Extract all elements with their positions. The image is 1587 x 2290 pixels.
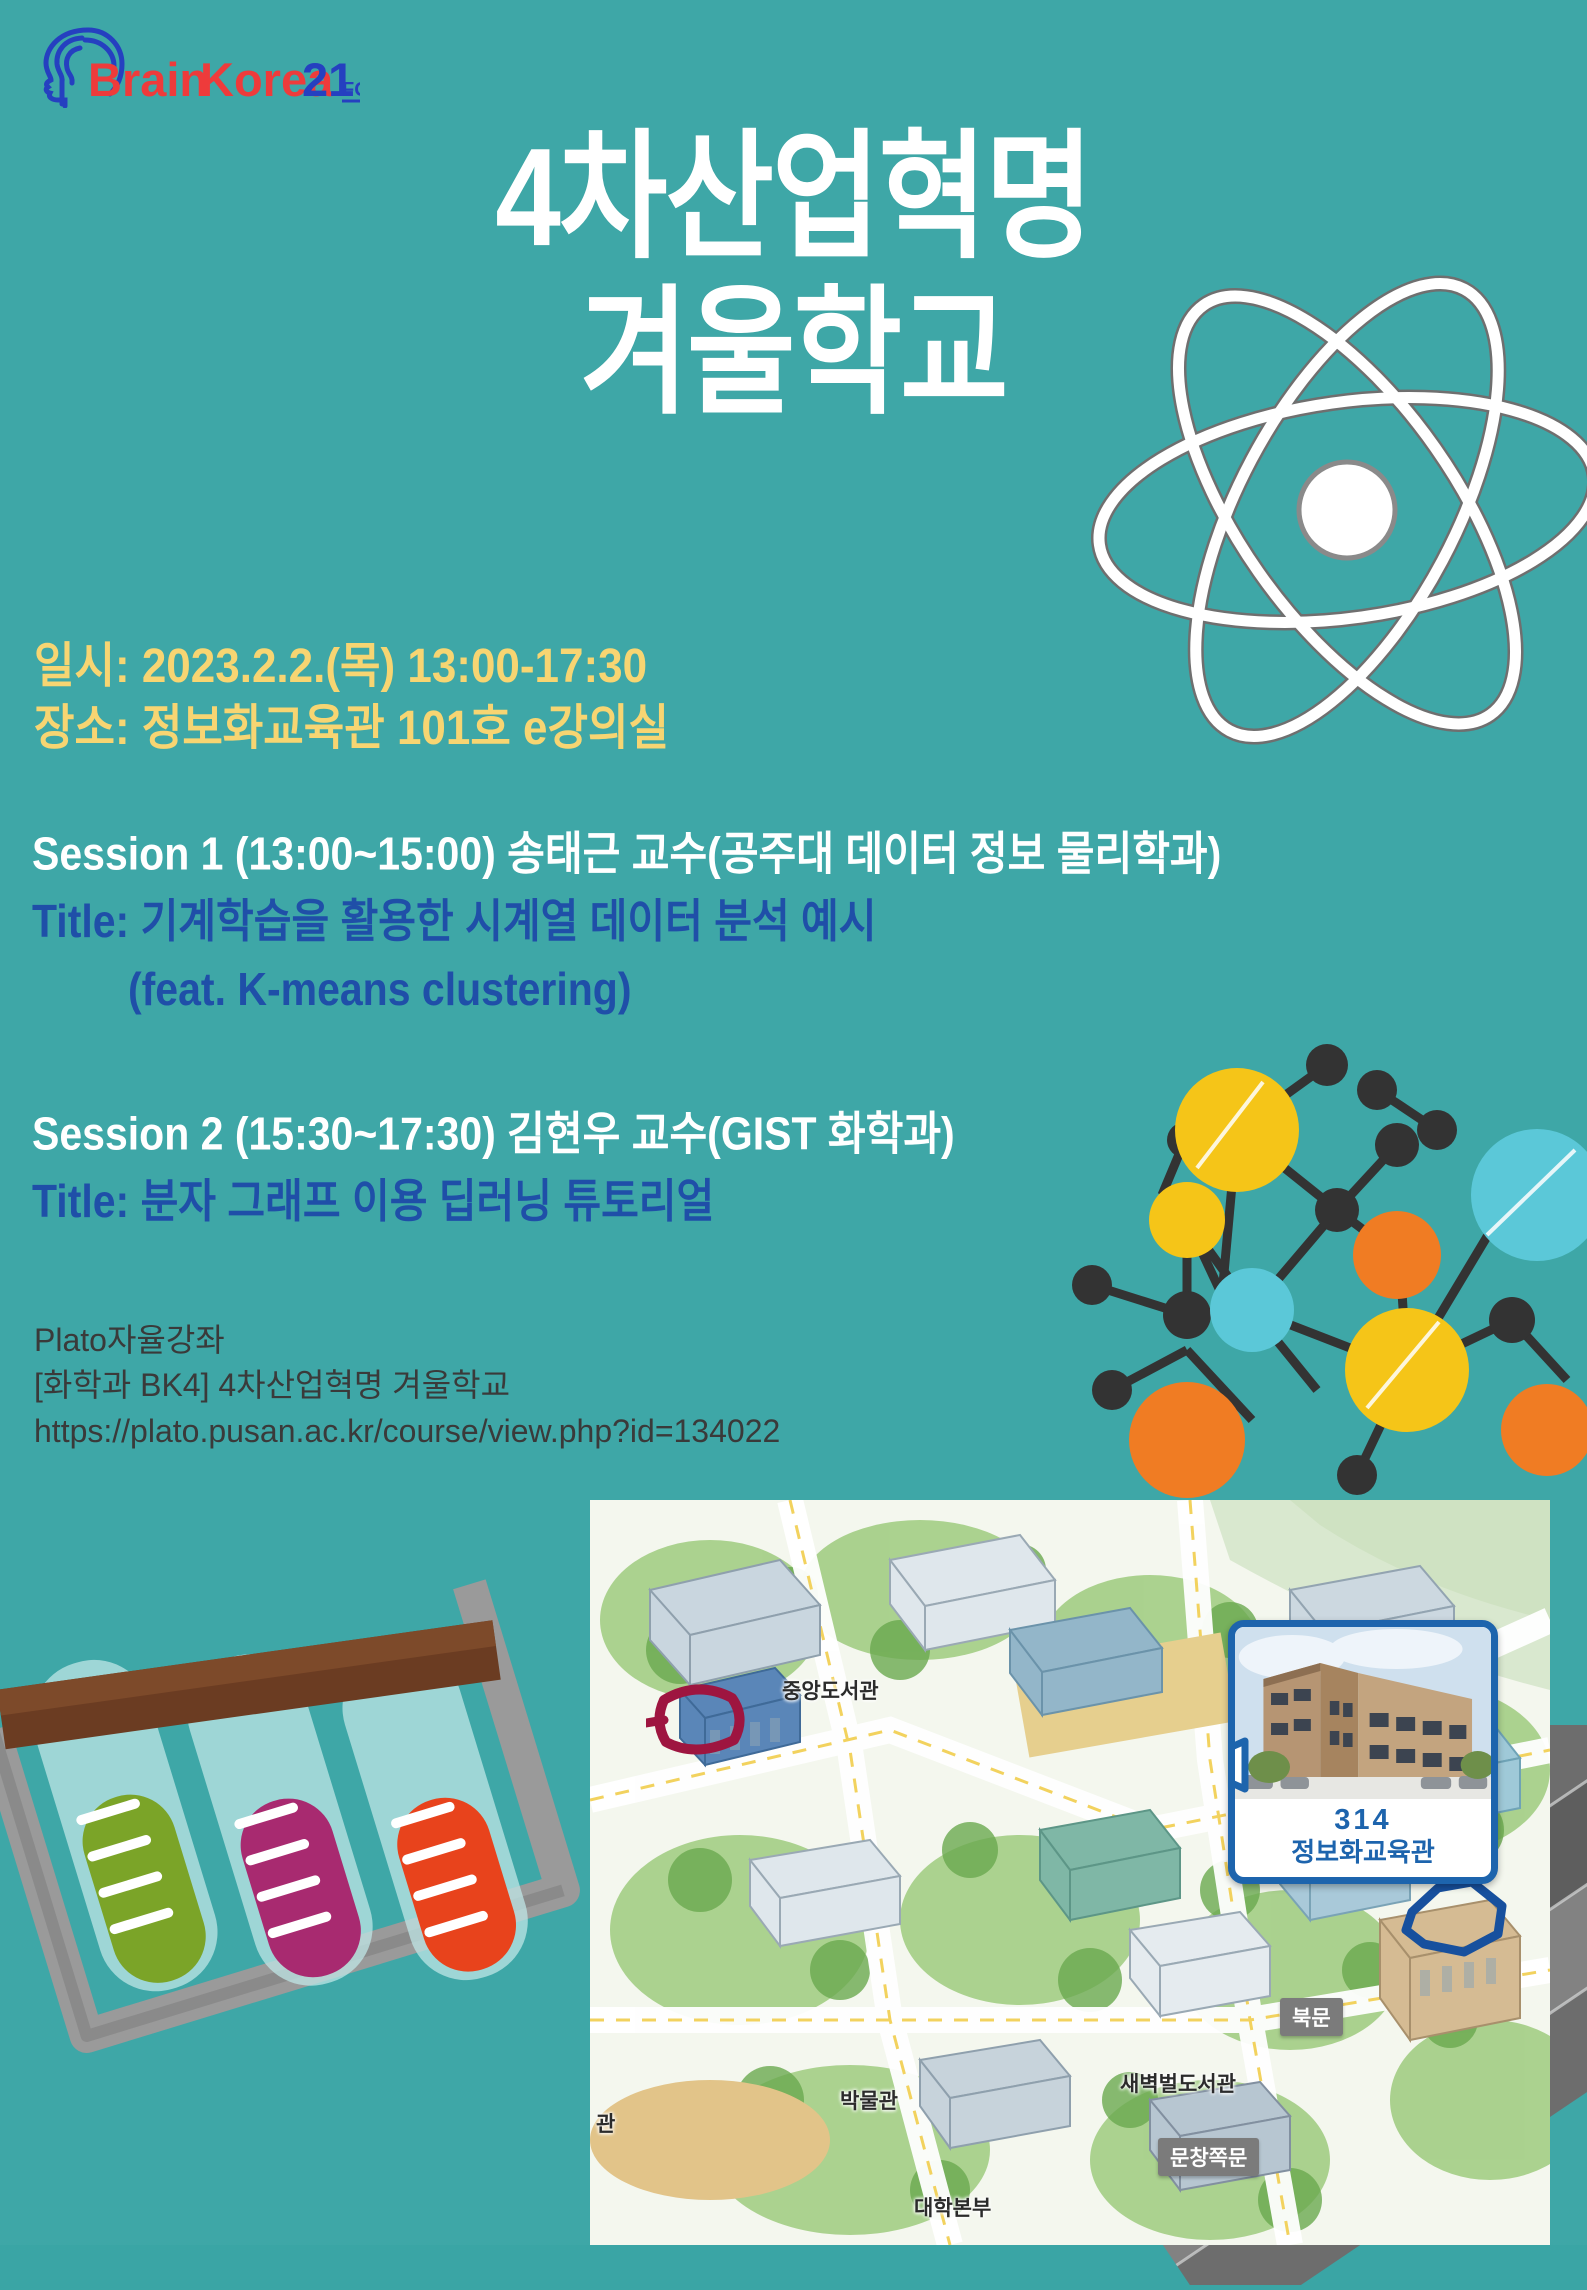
session-1-title-continued: (feat. K-means clustering) [32,959,1221,1021]
event-info: 일시: 2023.2.2.(목) 13:00-17:30 장소: 정보화교육관 … [34,636,669,760]
session-2-heading: Session 2 (15:30~17:30) 김현우 교수(GIST 화학과) [32,1106,955,1163]
event-location: 장소: 정보화교육관 101호 e강의실 [34,698,669,760]
bk21-four-logo: Brain Korea 21 FOUR [30,18,360,108]
event-datetime: 일시: 2023.2.2.(목) 13:00-17:30 [34,636,669,698]
callout-room-number: 314 [1235,1803,1491,1837]
building-callout: 314 정보화교육관 [1228,1620,1498,1884]
library-highlight-ring [646,1672,756,1762]
plato-label: Plato자율강좌 [34,1318,780,1363]
map-label-saebyeokbeol-library: 새벽벌도서관 [1120,2068,1236,2098]
page-title: 4차산업혁명 겨울학교 [0,120,1587,432]
plato-course-info: Plato자율강좌 [화학과 BK4] 4차산업혁명 겨울학교 https://… [34,1318,780,1454]
building-photo [1235,1627,1491,1799]
title-line-2: 겨울학교 [0,276,1587,432]
callout-building-name: 정보화교육관 [1235,1837,1491,1868]
plato-course-url[interactable]: https://plato.pusan.ac.kr/course/view.ph… [34,1409,780,1454]
map-label-central-library: 중앙도서관 [782,1675,879,1705]
map-label-munchang-side-gate: 문창쪽문 [1158,2138,1259,2176]
plato-course-name: [화학과 BK4] 4차산업혁명 겨울학교 [34,1363,780,1408]
test-tubes-icon [0,1500,590,2140]
session-1-block: Session 1 (13:00~15:00) 송태근 교수(공주대 데이터 정… [32,826,1221,1014]
callout-caption: 314 정보화교육관 [1235,1799,1491,1877]
callout-pointer-shape [1228,1735,1249,1795]
campus-map[interactable]: 중앙도서관 박물관 새벽벌도서관 북문 문창쪽문 대학본부 관 [590,1500,1550,2245]
session-2-block: Session 2 (15:30~17:30) 김현우 교수(GIST 화학과)… [32,1106,955,1227]
map-label-museum: 박물관 [840,2085,898,2115]
map-label-north-gate: 북문 [1280,1998,1343,2036]
map-label-partial-gwan: 관 [596,2108,615,2138]
session-1-heading: Session 1 (13:00~15:00) 송태근 교수(공주대 데이터 정… [32,826,1221,883]
logo-brain-text: Brain [88,53,208,106]
title-line-1: 4차산업혁명 [0,120,1587,276]
molecule-network-icon [1067,1020,1587,1500]
session-2-title: Title: 분자 그래프 이용 딥러닝 튜토리얼 [32,1171,955,1233]
target-building-highlight-ring [1398,1872,1514,1964]
logo-four-text: FOUR [342,79,360,101]
session-1-title: Title: 기계학습을 활용한 시계열 데이터 분석 예시 [32,891,1221,953]
map-label-main-admin-building: 대학본부 [914,2192,991,2222]
